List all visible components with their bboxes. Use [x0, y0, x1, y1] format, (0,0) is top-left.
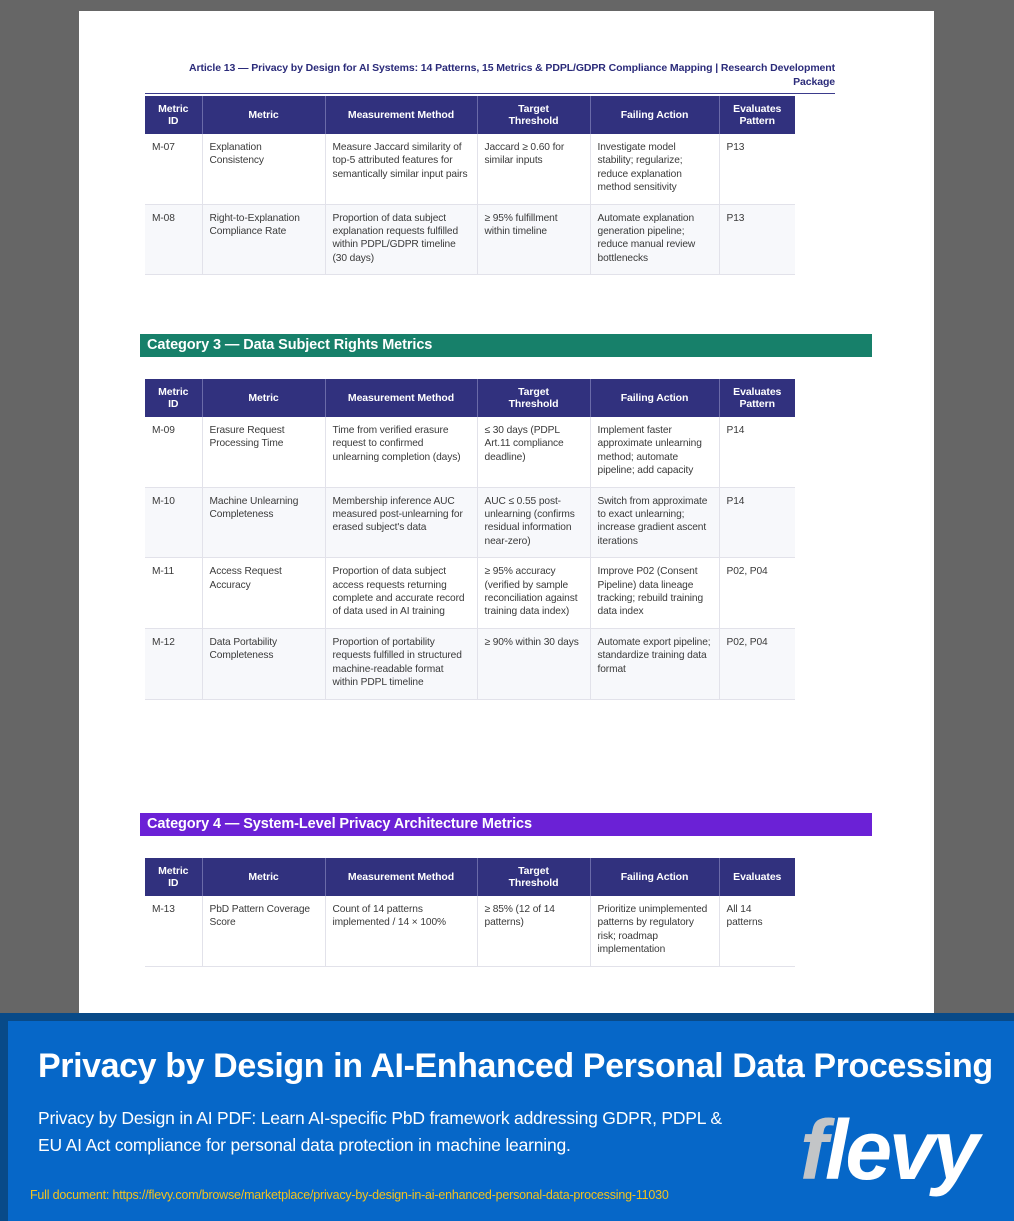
cell-measurement-method: Measure Jaccard similarity of top-5 attr…: [325, 134, 477, 204]
table-row: M-11 Access Request Accuracy Proportion …: [145, 558, 795, 629]
cell-evaluates-pattern: P02, P04: [719, 558, 795, 629]
header-line-1: Evaluates: [733, 386, 781, 398]
table-header-row: Metric ID Metric Measurement Method Targ…: [145, 96, 795, 134]
cell-metric: Erasure Request Processing Time: [202, 417, 325, 487]
promo-document-link[interactable]: Full document: https://flevy.com/browse/…: [30, 1188, 669, 1202]
document-header-title: Article 13 — Privacy by Design for AI Sy…: [145, 61, 835, 89]
flevy-logo-f: f: [800, 1103, 825, 1197]
cell-target-threshold: ≥ 95% accuracy (verified by sample recon…: [477, 558, 590, 629]
cell-failing-action: Improve P02 (Consent Pipeline) data line…: [590, 558, 719, 629]
metrics-table-continued: Metric ID Metric Measurement Method Targ…: [145, 96, 795, 275]
header-line-1: Evaluates: [733, 103, 781, 115]
column-header-evaluates: Evaluates: [719, 858, 795, 896]
cell-target-threshold: ≥ 90% within 30 days: [477, 628, 590, 699]
document-page: Article 13 — Privacy by Design for AI Sy…: [79, 11, 934, 1013]
cell-metric-id: M-11: [145, 558, 202, 629]
cell-measurement-method: Proportion of data subject explanation r…: [325, 204, 477, 275]
metrics-table-category-3: Metric ID Metric Measurement Method Targ…: [145, 379, 795, 700]
header-line-2: ID: [168, 115, 178, 127]
flevy-logo: flevy: [800, 1108, 976, 1192]
cell-target-threshold: AUC ≤ 0.55 post-unlearning (confirms res…: [477, 487, 590, 558]
flevy-logo-levy: levy: [825, 1103, 977, 1197]
column-header-metric-id: Metric ID: [145, 96, 202, 134]
cell-failing-action: Automate explanation generation pipeline…: [590, 204, 719, 275]
column-header-metric: Metric: [202, 96, 325, 134]
cell-evaluates-pattern: P02, P04: [719, 628, 795, 699]
cell-metric: Right-to-Explanation Compliance Rate: [202, 204, 325, 275]
promo-title: Privacy by Design in AI-Enhanced Persona…: [38, 1047, 993, 1086]
header-line-2: Threshold: [509, 115, 559, 127]
cell-measurement-method: Time from verified erasure request to co…: [325, 417, 477, 487]
column-header-metric: Metric: [202, 858, 325, 896]
cell-target-threshold: ≥ 95% fulfillment within timeline: [477, 204, 590, 275]
column-header-measurement-method: Measurement Method: [325, 379, 477, 417]
table-row: M-09 Erasure Request Processing Time Tim…: [145, 417, 795, 487]
document-header: Article 13 — Privacy by Design for AI Sy…: [145, 61, 835, 94]
table-row: M-13 PbD Pattern Coverage Score Count of…: [145, 896, 795, 966]
cell-failing-action: Switch from approximate to exact unlearn…: [590, 487, 719, 558]
cell-metric-id: M-07: [145, 134, 202, 204]
cell-target-threshold: Jaccard ≥ 0.60 for similar inputs: [477, 134, 590, 204]
cell-measurement-method: Count of 14 patterns implemented / 14 × …: [325, 896, 477, 966]
column-header-failing-action: Failing Action: [590, 379, 719, 417]
cell-metric: Machine Unlearning Completeness: [202, 487, 325, 558]
header-line-1: Target: [518, 386, 549, 398]
column-header-metric-id: Metric ID: [145, 379, 202, 417]
cell-metric: Access Request Accuracy: [202, 558, 325, 629]
header-divider: [145, 93, 835, 94]
cell-failing-action: Prioritize unimplemented patterns by reg…: [590, 896, 719, 966]
header-line-1: Metric: [158, 386, 188, 398]
cell-measurement-method: Membership inference AUC measured post-u…: [325, 487, 477, 558]
cell-evaluates-pattern: P14: [719, 417, 795, 487]
column-header-target-threshold: Target Threshold: [477, 858, 590, 896]
header-line-2: ID: [168, 398, 178, 410]
metrics-table-category-4: Metric ID Metric Measurement Method Targ…: [145, 858, 795, 967]
cell-measurement-method: Proportion of data subject access reques…: [325, 558, 477, 629]
table-row: M-10 Machine Unlearning Completeness Mem…: [145, 487, 795, 558]
cell-evaluates-pattern: P13: [719, 204, 795, 275]
category-3-banner: Category 3 — Data Subject Rights Metrics: [140, 334, 872, 357]
cell-evaluates-pattern: All 14 patterns: [719, 896, 795, 966]
header-line-1: Metric: [158, 865, 188, 877]
category-4-banner: Category 4 — System-Level Privacy Archit…: [140, 813, 872, 836]
table-header-row: Metric ID Metric Measurement Method Targ…: [145, 858, 795, 896]
cell-target-threshold: ≤ 30 days (PDPL Art.11 compliance deadli…: [477, 417, 590, 487]
cell-metric-id: M-08: [145, 204, 202, 275]
header-line-1: Target: [518, 103, 549, 115]
column-header-failing-action: Failing Action: [590, 96, 719, 134]
cell-metric-id: M-10: [145, 487, 202, 558]
column-header-metric: Metric: [202, 379, 325, 417]
column-header-evaluates-pattern: Evaluates Pattern: [719, 96, 795, 134]
header-line-1: Metric: [158, 103, 188, 115]
column-header-target-threshold: Target Threshold: [477, 96, 590, 134]
column-header-measurement-method: Measurement Method: [325, 96, 477, 134]
column-header-target-threshold: Target Threshold: [477, 379, 590, 417]
cell-metric-id: M-13: [145, 896, 202, 966]
cell-metric: Explanation Consistency: [202, 134, 325, 204]
column-header-metric-id: Metric ID: [145, 858, 202, 896]
table-row: M-08 Right-to-Explanation Compliance Rat…: [145, 204, 795, 275]
cell-failing-action: Investigate model stability; regularize;…: [590, 134, 719, 204]
cell-metric-id: M-12: [145, 628, 202, 699]
table-row: M-07 Explanation Consistency Measure Jac…: [145, 134, 795, 204]
header-line-2: Threshold: [509, 877, 559, 889]
cell-measurement-method: Proportion of portability requests fulfi…: [325, 628, 477, 699]
header-line-2: Pattern: [740, 115, 775, 127]
cell-metric-id: M-09: [145, 417, 202, 487]
header-line-2: Threshold: [509, 398, 559, 410]
cell-metric: Data Portability Completeness: [202, 628, 325, 699]
table-row: M-12 Data Portability Completeness Propo…: [145, 628, 795, 699]
column-header-measurement-method: Measurement Method: [325, 858, 477, 896]
cell-failing-action: Implement faster approximate unlearning …: [590, 417, 719, 487]
header-line-2: ID: [168, 877, 178, 889]
cell-target-threshold: ≥ 85% (12 of 14 patterns): [477, 896, 590, 966]
promo-description: Privacy by Design in AI PDF: Learn AI-sp…: [38, 1105, 728, 1159]
header-line-1: Target: [518, 865, 549, 877]
cell-failing-action: Automate export pipeline; standardize tr…: [590, 628, 719, 699]
column-header-evaluates-pattern: Evaluates Pattern: [719, 379, 795, 417]
cell-evaluates-pattern: P14: [719, 487, 795, 558]
cell-evaluates-pattern: P13: [719, 134, 795, 204]
column-header-failing-action: Failing Action: [590, 858, 719, 896]
cell-metric: PbD Pattern Coverage Score: [202, 896, 325, 966]
header-line-2: Pattern: [740, 398, 775, 410]
table-header-row: Metric ID Metric Measurement Method Targ…: [145, 379, 795, 417]
